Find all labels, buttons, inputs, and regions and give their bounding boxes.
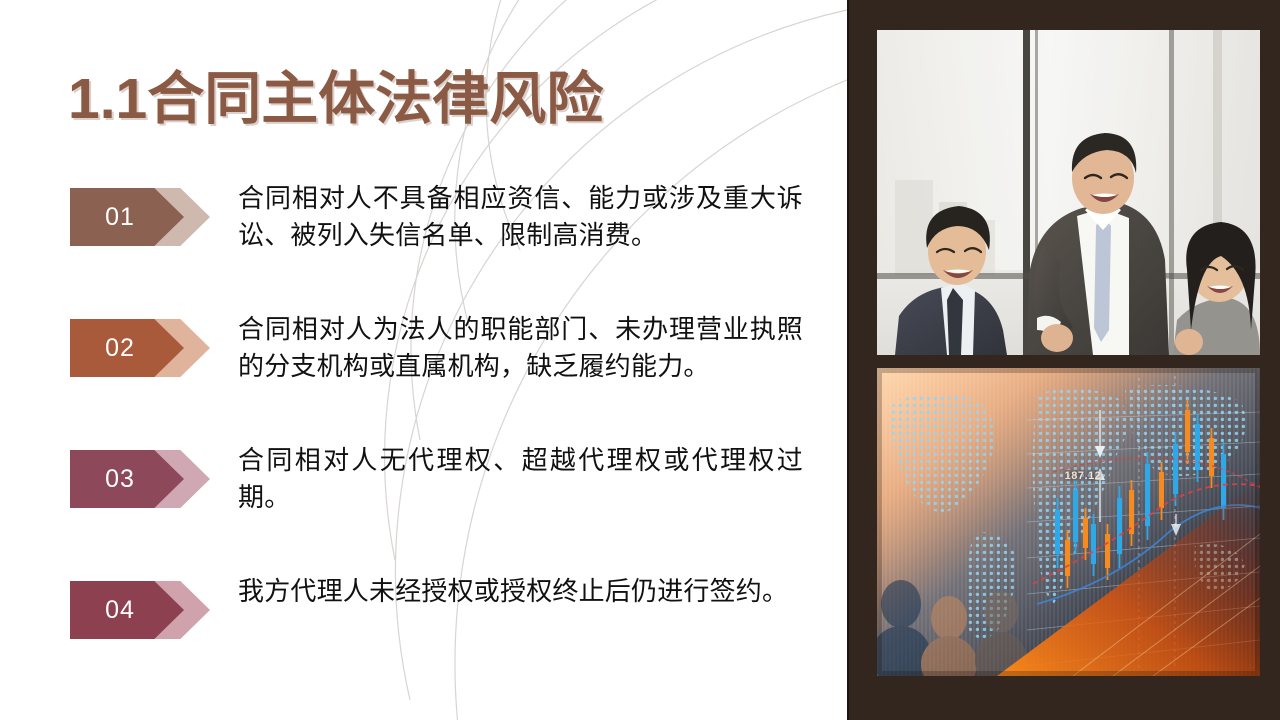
risk-item-02: 02 合同相对人为法人的职能部门、未办理营业执照的分支机构或直属机构，缺乏履约能… [0, 311, 847, 442]
risk-badge-number: 04 [105, 598, 135, 623]
slide-root: 1.1合同主体法律风险 01 合同相对人不具备相应资信、能力或涉及重大诉讼、被列… [0, 0, 1280, 720]
page-title: 1.1合同主体法律风险 [68, 68, 603, 131]
risk-item-03: 03 合同相对人无代理权、超越代理权或代理权过期。 [0, 442, 847, 573]
risk-badge-01[interactable]: 01 [70, 188, 210, 246]
risk-item-text: 我方代理人未经授权或授权终止后仍进行签约。 [238, 573, 803, 610]
risk-badge-03[interactable]: 03 [70, 450, 210, 508]
risk-badge-04[interactable]: 04 [70, 581, 210, 639]
risk-item-text: 合同相对人不具备相应资信、能力或涉及重大诉讼、被列入失信名单、限制高消费。 [238, 180, 803, 254]
risk-badge-02[interactable]: 02 [70, 319, 210, 377]
risk-badge-number: 03 [105, 467, 135, 492]
risk-badge-number: 02 [105, 336, 135, 361]
right-image-panel: 187.12 [847, 0, 1280, 720]
financial-data-photo: 187.12 [877, 368, 1260, 676]
left-content-column: 1.1合同主体法律风险 01 合同相对人不具备相应资信、能力或涉及重大诉讼、被列… [0, 0, 847, 720]
risk-item-list: 01 合同相对人不具备相应资信、能力或涉及重大诉讼、被列入失信名单、限制高消费。… [0, 180, 847, 704]
risk-item-04: 04 我方代理人未经授权或授权终止后仍进行签约。 [0, 573, 847, 704]
business-team-photo [877, 30, 1260, 355]
risk-item-01: 01 合同相对人不具备相应资信、能力或涉及重大诉讼、被列入失信名单、限制高消费。 [0, 180, 847, 311]
risk-item-text: 合同相对人无代理权、超越代理权或代理权过期。 [238, 442, 803, 516]
risk-item-text: 合同相对人为法人的职能部门、未办理营业执照的分支机构或直属机构，缺乏履约能力。 [238, 311, 803, 385]
panel-left-edge [847, 0, 849, 720]
risk-badge-number: 01 [105, 205, 135, 230]
